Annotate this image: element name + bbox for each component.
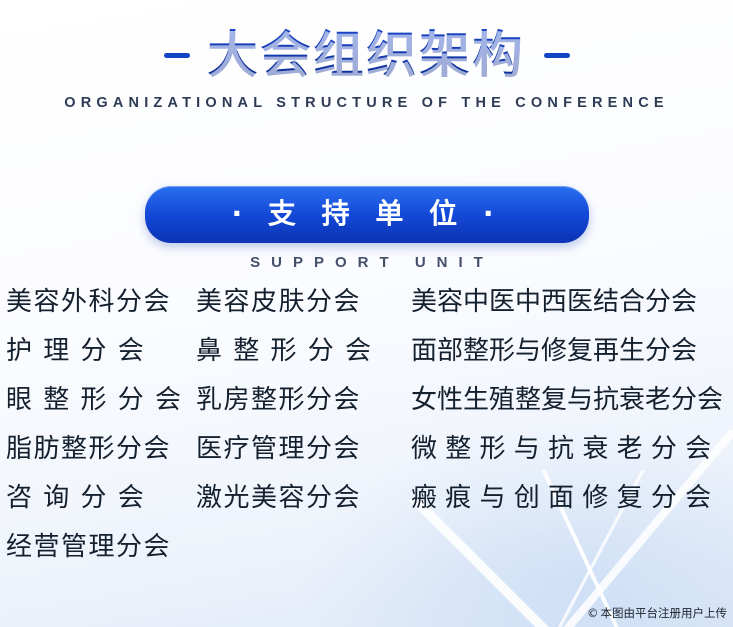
section-header: · 支 持 单 位 · SUPPORT UNIT — [0, 186, 733, 271]
copyright-icon: © — [587, 606, 599, 620]
page-subtitle: ORGANIZATIONAL STRUCTURE OF THE CONFEREN… — [0, 95, 733, 111]
watermark-text: 本图由平台注册用户上传 — [601, 605, 728, 621]
title-row: 大会组织架构 — [0, 28, 733, 83]
list-item: 医疗管理分会 — [196, 425, 411, 474]
list-item: 鼻 整 形 分 会 — [196, 327, 411, 376]
support-unit-subtitle: SUPPORT UNIT — [0, 254, 733, 271]
list-item: 护 理 分 会 — [6, 327, 196, 376]
support-unit-badge: · 支 持 单 位 · — [145, 186, 589, 243]
unit-columns: 美容外科分会 护 理 分 会 眼 整 形 分 会 脂肪整形分会 咨 询 分 会 … — [0, 278, 733, 572]
list-item: 面部整形与修复再生分会 — [411, 327, 733, 376]
list-item: 眼 整 形 分 会 — [6, 376, 196, 425]
list-item: 脂肪整形分会 — [6, 425, 196, 474]
column-3: 美容中医中西医结合分会 面部整形与修复再生分会 女性生殖整复与抗衰老分会 微 整… — [411, 278, 733, 572]
title-block: 大会组织架构 ORGANIZATIONAL STRUCTURE OF THE C… — [0, 28, 733, 111]
list-item: 激光美容分会 — [196, 474, 411, 523]
list-item: 美容皮肤分会 — [196, 278, 411, 327]
dash-right-icon — [544, 53, 570, 58]
list-item: 乳房整形分会 — [196, 376, 411, 425]
poster-page: 大会组织架构 ORGANIZATIONAL STRUCTURE OF THE C… — [0, 0, 733, 627]
list-item: 美容外科分会 — [6, 278, 196, 327]
list-item: 瘢 痕 与 创 面 修 复 分 会 — [411, 474, 733, 523]
page-title: 大会组织架构 — [208, 28, 526, 83]
watermark: © 本图由平台注册用户上传 — [587, 605, 727, 621]
list-item: 女性生殖整复与抗衰老分会 — [411, 376, 733, 425]
list-item: 经营管理分会 — [6, 523, 196, 572]
list-item: 咨 询 分 会 — [6, 474, 196, 523]
dash-left-icon — [164, 53, 190, 58]
list-item: 微 整 形 与 抗 衰 老 分 会 — [411, 425, 733, 474]
list-item: 美容中医中西医结合分会 — [411, 278, 733, 327]
column-2: 美容皮肤分会 鼻 整 形 分 会 乳房整形分会 医疗管理分会 激光美容分会 — [196, 278, 411, 572]
column-1: 美容外科分会 护 理 分 会 眼 整 形 分 会 脂肪整形分会 咨 询 分 会 … — [0, 278, 196, 572]
